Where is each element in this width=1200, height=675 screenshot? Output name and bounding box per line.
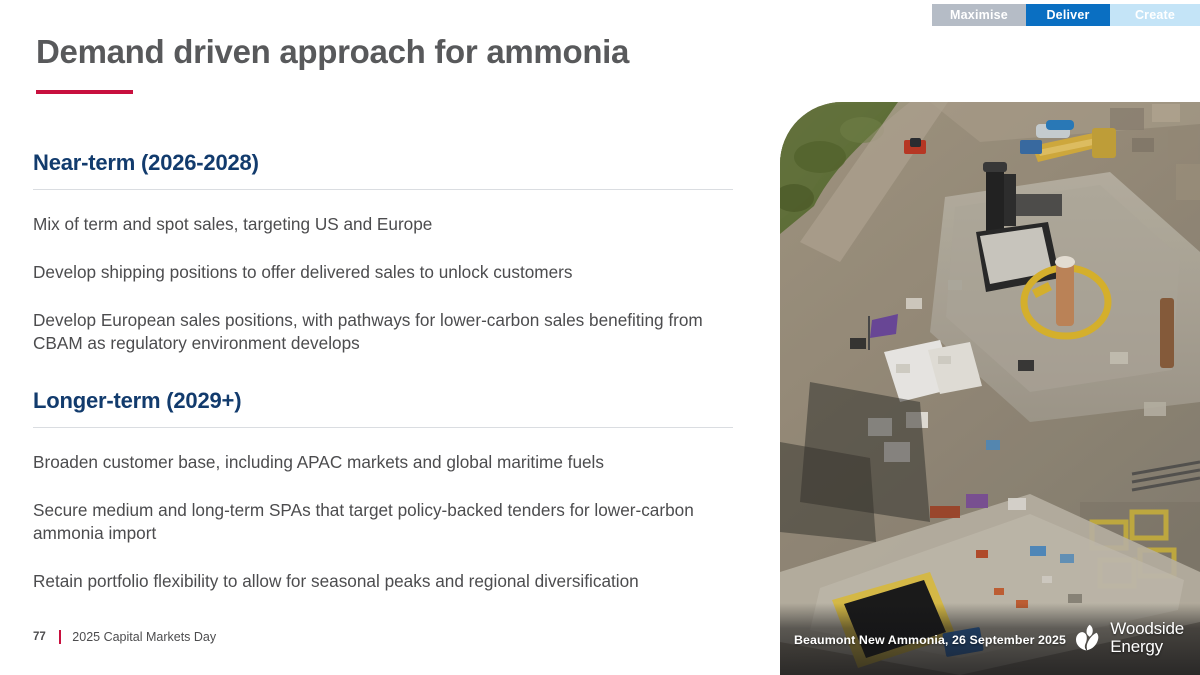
footer-divider: [59, 630, 62, 644]
site-photo-panel: Beaumont New Ammonia, 26 September 2025 …: [780, 102, 1200, 675]
woodside-petal-mark-icon: [1072, 624, 1102, 652]
content-column: Near-term (2026-2028) Mix of term and sp…: [33, 150, 735, 593]
nav-pill-deliver[interactable]: Deliver: [1026, 4, 1110, 26]
bullet-item: Secure medium and long-term SPAs that ta…: [33, 499, 735, 545]
nav-pill-maximise-label: Maximise: [950, 8, 1008, 22]
section-near-term: Near-term (2026-2028) Mix of term and sp…: [33, 150, 735, 355]
title-accent-rule: [36, 90, 133, 94]
bullet-item: Develop shipping positions to offer deli…: [33, 261, 735, 284]
section-heading-longer-term: Longer-term (2029+): [33, 388, 735, 413]
logo-wordmark: Woodside Energy: [1110, 620, 1184, 655]
nav-pill-create[interactable]: Create: [1110, 4, 1200, 26]
footer-event-label: 2025 Capital Markets Day: [72, 630, 216, 644]
section-divider: [33, 427, 733, 428]
slide: Maximise Deliver Create Demand driven ap…: [0, 0, 1200, 675]
bullet-item: Retain portfolio flexibility to allow fo…: [33, 570, 735, 593]
aerial-site-photo: [780, 102, 1200, 675]
page-number: 77: [33, 631, 46, 643]
logo-line-2: Energy: [1110, 638, 1184, 655]
woodside-energy-logo: Woodside Energy: [1072, 620, 1184, 655]
bullet-item: Develop European sales positions, with p…: [33, 309, 735, 355]
nav-pill-deliver-label: Deliver: [1046, 8, 1089, 22]
section-heading-near-term: Near-term (2026-2028): [33, 150, 735, 175]
bullet-item: Broaden customer base, including APAC ma…: [33, 451, 735, 474]
photo-caption: Beaumont New Ammonia, 26 September 2025: [794, 633, 1066, 647]
nav-pill-maximise[interactable]: Maximise: [932, 4, 1026, 26]
bullet-item: Mix of term and spot sales, targeting US…: [33, 213, 735, 236]
strategy-nav-pills: Maximise Deliver Create: [932, 4, 1200, 26]
page-title: Demand driven approach for ammonia: [36, 33, 629, 71]
logo-line-1: Woodside: [1110, 619, 1184, 638]
section-divider: [33, 189, 733, 190]
nav-pill-create-label: Create: [1135, 8, 1175, 22]
section-longer-term: Longer-term (2029+) Broaden customer bas…: [33, 388, 735, 593]
slide-footer: 77 2025 Capital Markets Day: [33, 629, 216, 645]
